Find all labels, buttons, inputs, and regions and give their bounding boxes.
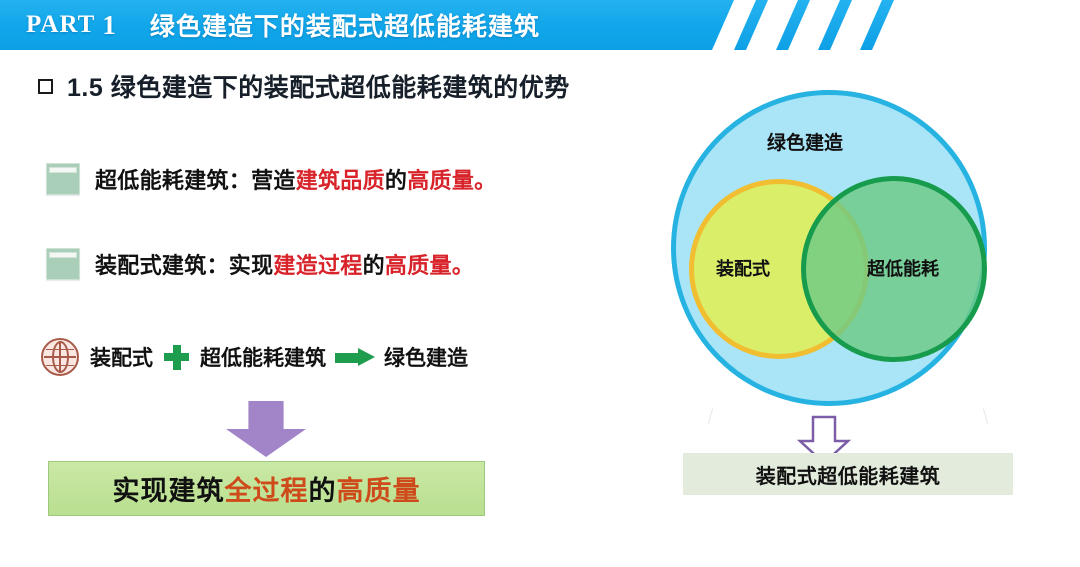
part-number: 1: [102, 10, 116, 41]
result-box: 实现建筑全过程的高质量: [48, 461, 485, 516]
section-heading-row: 1.5 绿色建造下的装配式超低能耗建筑的优势: [38, 68, 570, 104]
arrow-right-shaft: [335, 353, 359, 363]
result-seg-4: 高质量: [337, 476, 421, 506]
globe-latitude-bottom: [46, 365, 74, 366]
arrow-right-icon: [335, 348, 375, 367]
page-title: 1.5 绿色建造下的装配式超低能耗建筑的优势: [67, 68, 570, 104]
globe-ellipse: [52, 341, 69, 373]
venn-outer-label: 绿色建造: [767, 128, 843, 155]
bullet-2-seg-1: 装配式建筑：实现: [95, 253, 273, 278]
bullet-item-2: 装配式建筑：实现建造过程的高质量。: [46, 248, 474, 280]
header-stripes: [726, 0, 956, 50]
venn-caption-text: 装配式超低能耗建筑: [756, 460, 941, 489]
bullet-1-seg-2: 建筑品质: [296, 168, 385, 193]
header-stripe: [818, 0, 852, 50]
result-seg-2: 全过程: [225, 476, 309, 506]
bullet-1-seg-4: 高质量: [407, 168, 474, 193]
bullet-1-seg-3: 的: [385, 168, 407, 193]
globe-icon: [41, 338, 79, 376]
header-stripe: [776, 0, 810, 50]
slide: PART 1 绿色建造下的装配式超低能耗建筑 1.5 绿色建造下的装配式超低能耗…: [0, 0, 1080, 567]
formula-result: 绿色建造: [384, 342, 468, 372]
arrow-right-head: [358, 348, 375, 366]
arrow-down-icon: [226, 401, 306, 457]
formula-row: 装配式 超低能耗建筑 绿色建造: [41, 338, 468, 376]
bullet-2-seg-4: 高质量: [385, 253, 452, 278]
book-icon: [46, 248, 80, 280]
result-seg-3: 的: [309, 476, 337, 506]
decorative-line: [708, 408, 713, 424]
bullet-1-seg-1: 超低能耗建筑：营造: [95, 168, 296, 193]
venn-right-label: 超低能耗: [867, 255, 939, 281]
bullet-item-1: 超低能耗建筑：营造建筑品质的高质量。: [46, 163, 496, 195]
square-bullet-icon: [38, 79, 53, 94]
venn-caption-box: 装配式超低能耗建筑: [683, 453, 1013, 495]
bullet-text-1: 超低能耗建筑：营造建筑品质的高质量。: [95, 163, 496, 195]
bullet-2-seg-5: 。: [452, 253, 474, 278]
formula-term-2: 超低能耗建筑: [200, 342, 326, 372]
result-box-text: 实现建筑全过程的高质量: [113, 469, 421, 508]
bullet-2-seg-2: 建造过程: [273, 253, 362, 278]
plus-icon: [164, 345, 189, 370]
decorative-line: [983, 408, 988, 424]
header-stripe: [860, 0, 894, 50]
globe-latitude-top: [46, 349, 74, 350]
book-icon: [46, 163, 80, 195]
header-title: PART 1 绿色建造下的装配式超低能耗建筑: [0, 0, 740, 50]
bullet-1-seg-5: 。: [474, 168, 496, 193]
formula-term-1: 装配式: [90, 342, 153, 372]
part-label: PART: [26, 11, 95, 39]
result-seg-1: 实现建筑: [113, 476, 225, 506]
bullet-2-seg-3: 的: [363, 253, 385, 278]
bullet-text-2: 装配式建筑：实现建造过程的高质量。: [95, 248, 474, 280]
venn-left-label: 装配式: [716, 255, 770, 281]
header-title-cn: 绿色建造下的装配式超低能耗建筑: [150, 7, 540, 43]
venn-diagram: 绿色建造 装配式 超低能耗: [661, 86, 1049, 410]
